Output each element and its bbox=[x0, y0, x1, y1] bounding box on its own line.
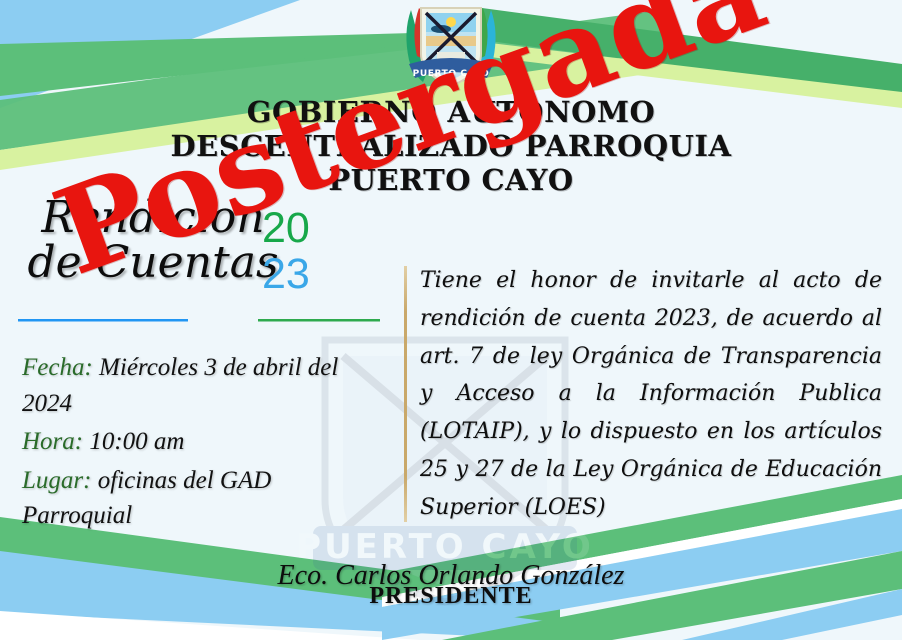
page-title: GOBIERNO AUTÓNOMO DESCENTRALIZADO PARROQ… bbox=[0, 96, 902, 198]
event-title-line-1: Rendicion bbox=[41, 192, 264, 243]
detail-row-hora: Hora: 10:00 am bbox=[22, 424, 372, 460]
poster-canvas: PUERTO CAYO PUERTO CAYO GOBIERNO AUTÓNOM… bbox=[0, 0, 902, 640]
detail-label-hora: Hora: bbox=[22, 428, 83, 455]
title-divider-rule bbox=[18, 318, 380, 322]
event-year-bottom: 23 bbox=[262, 252, 310, 298]
detail-row-lugar: Lugar: oficinas del GAD Parroquial bbox=[22, 463, 372, 534]
heading-line-1: GOBIERNO AUTÓNOMO bbox=[0, 96, 902, 130]
heading-line-2: DESCENTRALIZADO PARROQUIA bbox=[0, 130, 902, 164]
invitation-body-text: Tiene el honor de invitarle al acto de r… bbox=[420, 262, 882, 527]
column-divider bbox=[404, 266, 407, 522]
detail-value-hora: 10:00 am bbox=[89, 428, 184, 455]
signature-block: Eco. Carlos Orlando González PRESIDENTE bbox=[0, 560, 902, 610]
event-year: 20 23 bbox=[262, 206, 310, 297]
detail-row-fecha: Fecha: Miércoles 3 de abril del 2024 bbox=[22, 350, 372, 421]
event-title: Rendicion de Cuentas bbox=[18, 196, 288, 286]
coat-of-arms-icon: PUERTO CAYO bbox=[395, 2, 507, 92]
event-title-line-2: de Cuentas bbox=[27, 237, 278, 288]
signature-role: PRESIDENTE bbox=[0, 583, 902, 610]
detail-label-fecha: Fecha: bbox=[22, 354, 93, 381]
event-year-top: 20 bbox=[262, 206, 310, 252]
detail-label-lugar: Lugar: bbox=[22, 467, 91, 494]
emblem-banner-text: PUERTO CAYO bbox=[413, 69, 490, 79]
event-details: Fecha: Miércoles 3 de abril del 2024 Hor… bbox=[22, 350, 372, 537]
